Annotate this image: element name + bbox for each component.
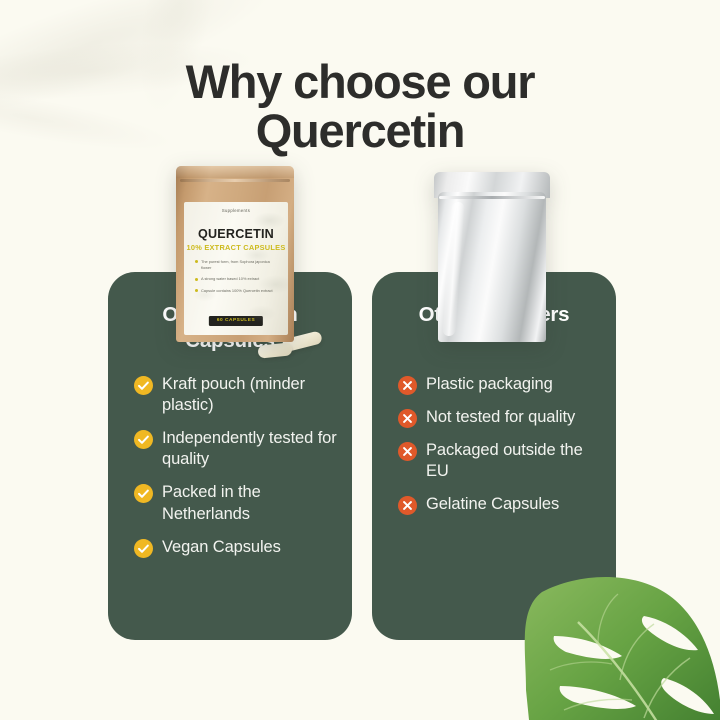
pouch-seam — [439, 196, 545, 199]
list-item: Independently tested for quality — [134, 428, 340, 470]
pouch-feature: The purest form, from Sophora japonica f… — [195, 259, 281, 270]
list-item-label: Not tested for quality — [426, 407, 575, 428]
pouch-brand: Supplements — [184, 208, 288, 213]
pouch-subtitle: 10% EXTRACT CAPSULES — [184, 243, 288, 252]
capsule — [257, 342, 292, 358]
list-item: Packed in the Netherlands — [134, 482, 340, 524]
list-item-label: Independently tested for quality — [162, 428, 340, 470]
product-image-kraft-pouch: Supplements QUERCETIN 10% EXTRACT CAPSUL… — [176, 166, 294, 342]
check-circle-icon — [134, 430, 153, 449]
cross-circle-icon — [398, 442, 417, 461]
cross-circle-icon — [398, 409, 417, 428]
product-image-silver-pouch — [434, 172, 550, 342]
cross-circle-icon — [398, 496, 417, 515]
page-title: Why choose our Quercetin — [0, 58, 720, 156]
pouch-feature-list: The purest form, from Sophora japonica f… — [195, 259, 281, 300]
page-title-line-2: Quercetin — [0, 107, 720, 156]
list-item: Plastic packaging — [398, 374, 604, 395]
list-item: Packaged outside the EU — [398, 440, 604, 482]
list-item: Not tested for quality — [398, 407, 604, 428]
pouch-product-name: QUERCETIN — [184, 227, 288, 241]
list-item: Gelatine Capsules — [398, 494, 604, 515]
pouch-capsule-count-badge: 60 CAPSULES — [209, 316, 263, 326]
pouch-feature: Capsule contains 100% Quercetin extract — [195, 288, 281, 294]
check-circle-icon — [134, 376, 153, 395]
list-item: Kraft pouch (minder plastic) — [134, 374, 340, 416]
list-item-label: Plastic packaging — [426, 374, 553, 395]
pouch-zipper — [180, 179, 290, 182]
list-item-label: Gelatine Capsules — [426, 494, 559, 515]
list-item-label: Vegan Capsules — [162, 537, 281, 558]
cross-circle-icon — [398, 376, 417, 395]
list-item-label: Packed in the Netherlands — [162, 482, 340, 524]
list-item: Vegan Capsules — [134, 537, 340, 558]
infographic-canvas: Why choose our Quercetin Our Quercetin C… — [0, 0, 720, 720]
check-circle-icon — [134, 484, 153, 503]
check-circle-icon — [134, 539, 153, 558]
benefit-list-ours: Kraft pouch (minder plastic) Independent… — [134, 374, 340, 570]
list-item-label: Kraft pouch (minder plastic) — [162, 374, 340, 416]
pouch-feature: A strong water based 10% extract — [195, 276, 281, 282]
pouch-label: Supplements QUERCETIN 10% EXTRACT CAPSUL… — [184, 202, 288, 335]
page-title-line-1: Why choose our — [186, 55, 535, 108]
list-item-label: Packaged outside the EU — [426, 440, 604, 482]
pouch-top-band — [176, 166, 294, 178]
drawback-list-others: Plastic packaging Not tested for quality… — [398, 374, 604, 528]
